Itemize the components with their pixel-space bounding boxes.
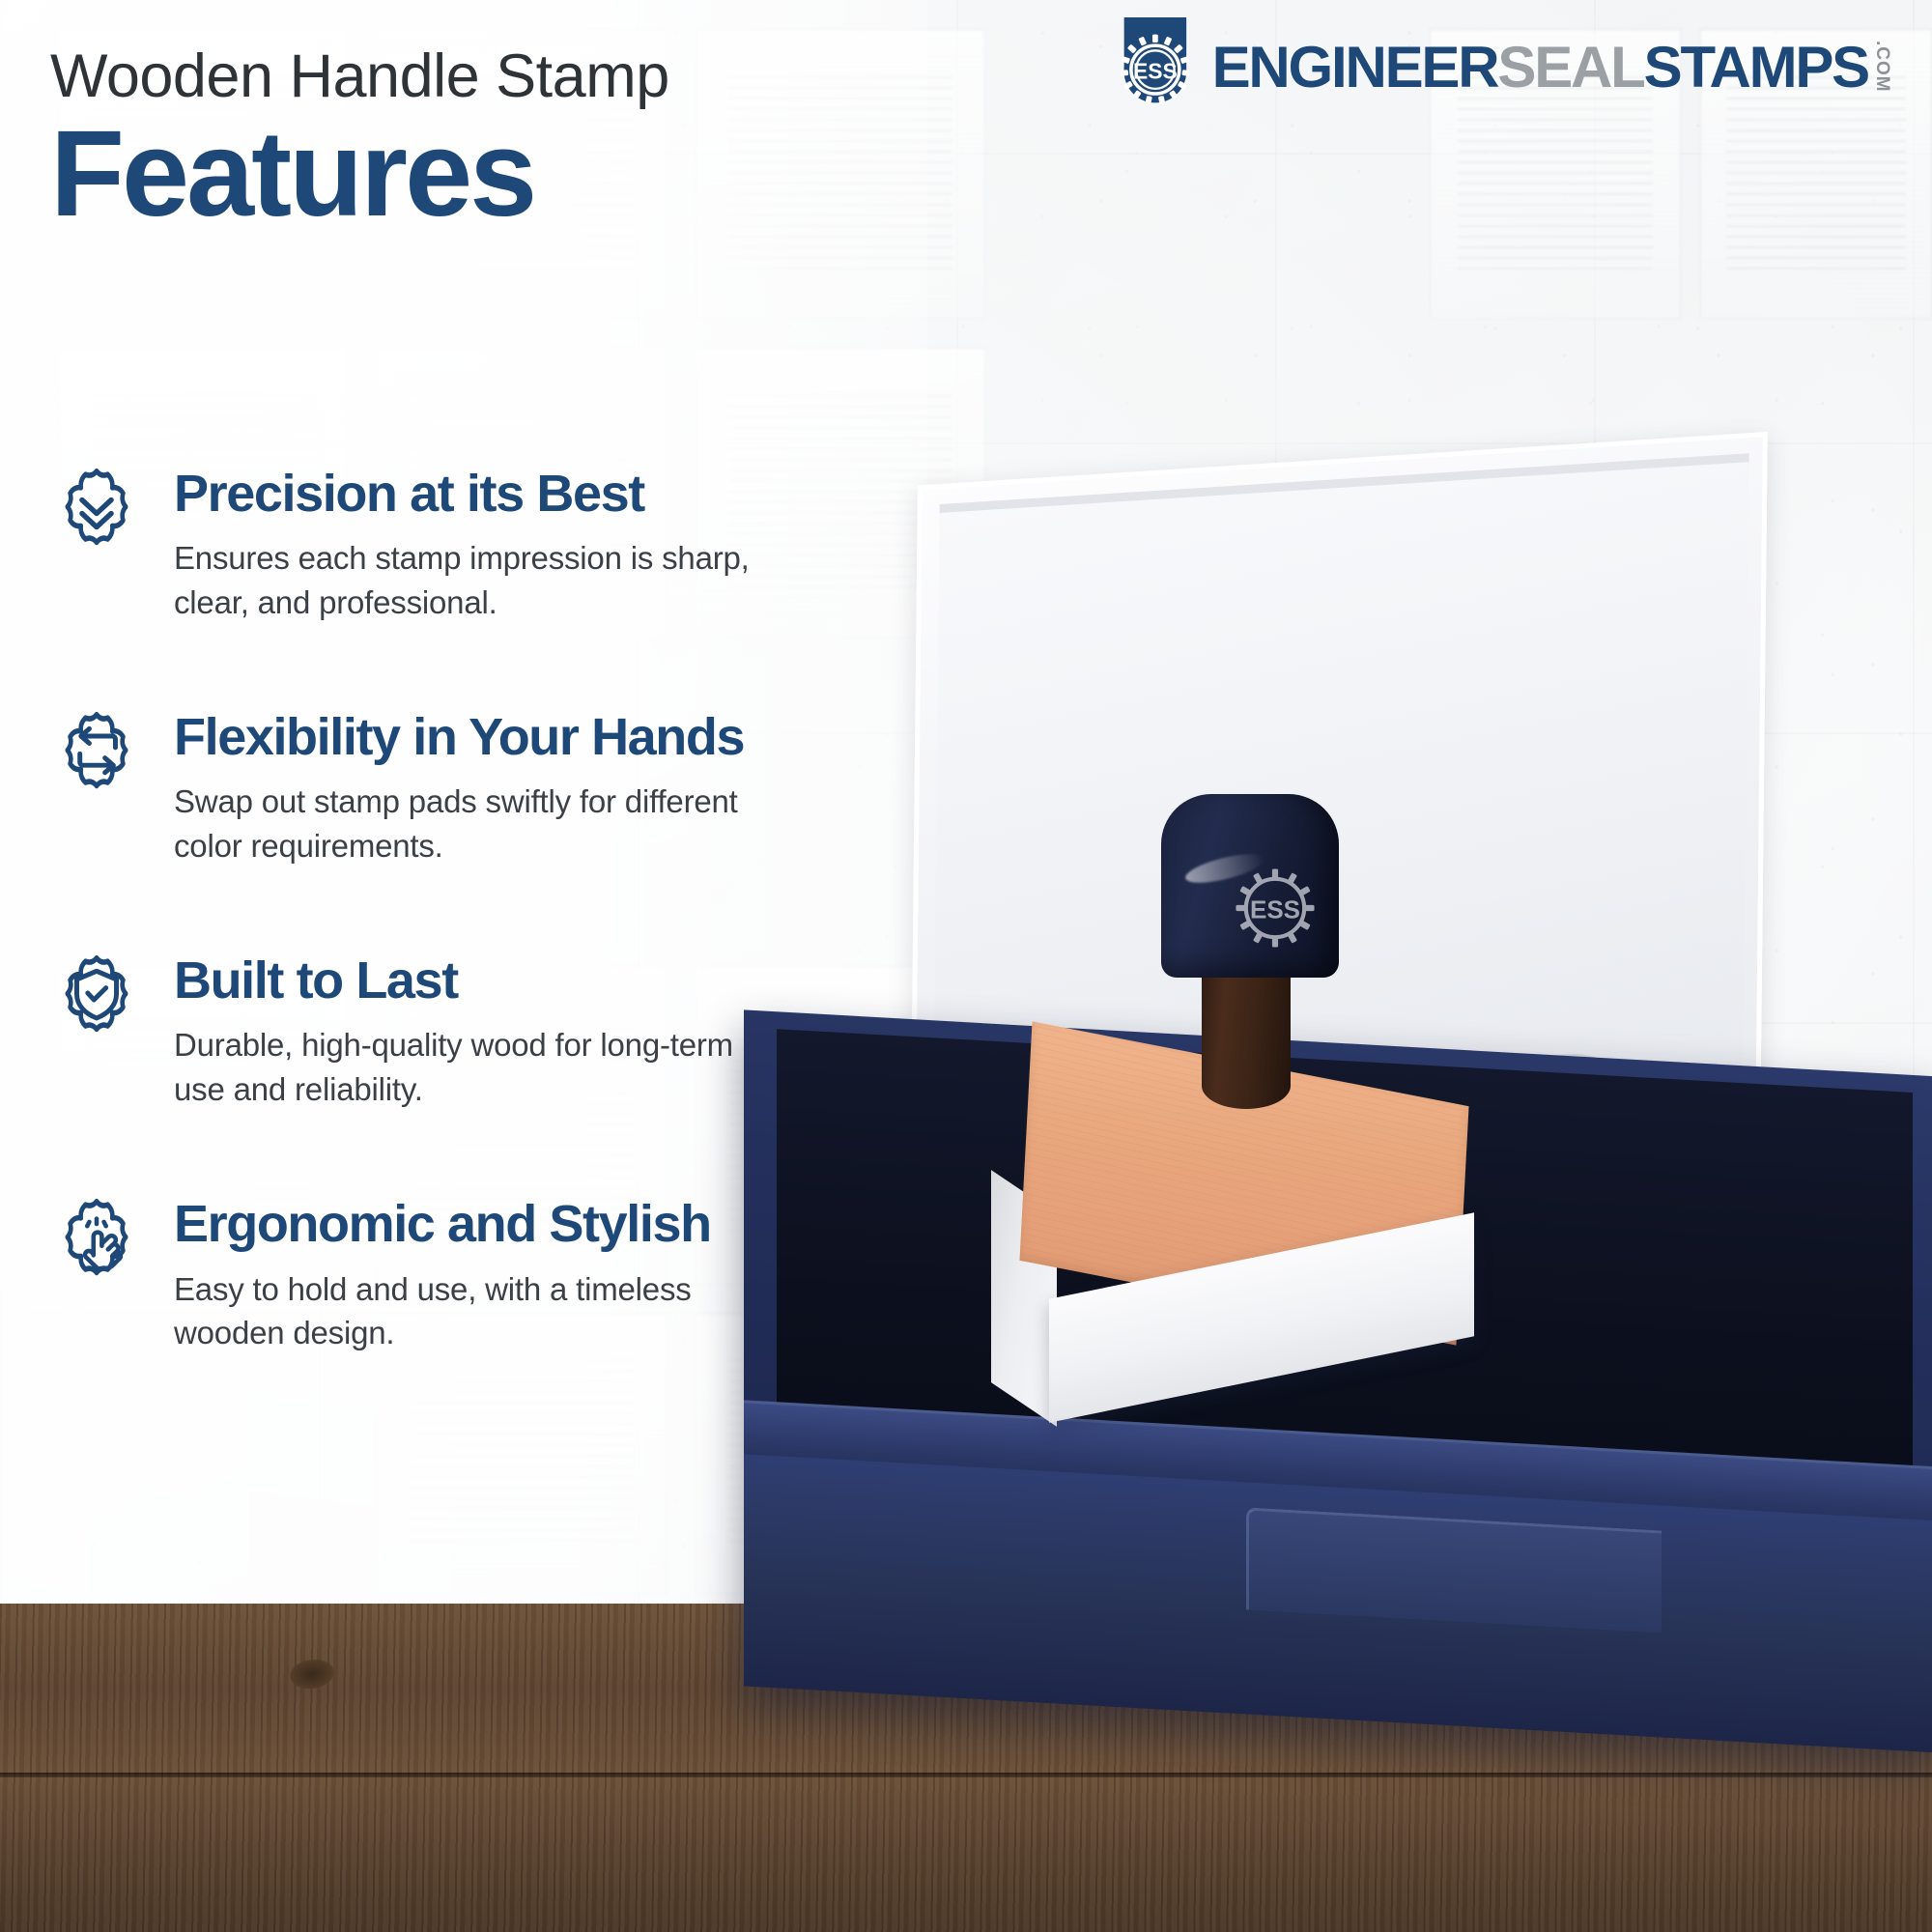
feature-item-durability: Built to Last Durable, high-quality wood…	[44, 941, 914, 1111]
feature-description: Easy to hold and use, with a timeless wo…	[174, 1267, 792, 1355]
page-subtitle: Wooden Handle Stamp	[50, 46, 1190, 107]
wordmark-stamps: STAMPS	[1644, 39, 1868, 97]
feature-heading: Precision at its Best	[174, 468, 914, 521]
feature-heading: Ergonomic and Stylish	[174, 1198, 914, 1251]
badge-text: ESS	[1133, 58, 1178, 83]
wordmark-seal: SEAL	[1497, 39, 1643, 97]
product-photo: ESS	[927, 502, 1932, 1855]
feature-list: Precision at its Best Ensures each stamp…	[44, 454, 914, 1355]
feature-item-ergonomics: Ergonomic and Stylish Easy to hold and u…	[44, 1184, 914, 1354]
badge-swap-arrows-icon	[44, 697, 149, 802]
handle-logo-text: ESS	[1250, 895, 1300, 923]
badge-pointing-hand-icon	[44, 1184, 149, 1289]
stamp-handle-knob: ESS	[1161, 794, 1339, 978]
badge-double-chevron-down-icon	[44, 454, 149, 558]
page-title: Features	[50, 113, 1190, 235]
ess-gear-icon: ESS	[1225, 858, 1325, 958]
ess-badge-icon: ESS	[1108, 17, 1208, 118]
feature-text-block: Precision at its Best Ensures each stamp…	[174, 454, 914, 624]
brand-logo[interactable]: ESS ENGINEER SEAL STAMPS .COM	[1108, 17, 1891, 118]
feature-heading: Flexibility in Your Hands	[174, 711, 914, 764]
wordmark-tld: .COM	[1873, 41, 1891, 93]
feature-text-block: Flexibility in Your Hands Swap out stamp…	[174, 697, 914, 867]
feature-text-block: Ergonomic and Stylish Easy to hold and u…	[174, 1184, 914, 1354]
table-wood-knot	[288, 1657, 336, 1691]
feature-text-block: Built to Last Durable, high-quality wood…	[174, 941, 914, 1111]
header: Wooden Handle Stamp Features	[50, 46, 1190, 235]
feature-item-precision: Precision at its Best Ensures each stamp…	[44, 454, 914, 624]
feature-description: Swap out stamp pads swiftly for differen…	[174, 780, 792, 867]
feature-description: Durable, high-quality wood for long-term…	[174, 1023, 792, 1111]
brand-wordmark: ENGINEER SEAL STAMPS .COM	[1212, 39, 1891, 97]
feature-item-flexibility: Flexibility in Your Hands Swap out stamp…	[44, 697, 914, 867]
badge-shield-check-icon	[44, 941, 149, 1045]
feature-description: Ensures each stamp impression is sharp, …	[174, 536, 792, 624]
wooden-handle-stamp: ESS	[966, 802, 1565, 1478]
feature-heading: Built to Last	[174, 954, 914, 1008]
wordmark-engineer: ENGINEER	[1212, 39, 1498, 97]
